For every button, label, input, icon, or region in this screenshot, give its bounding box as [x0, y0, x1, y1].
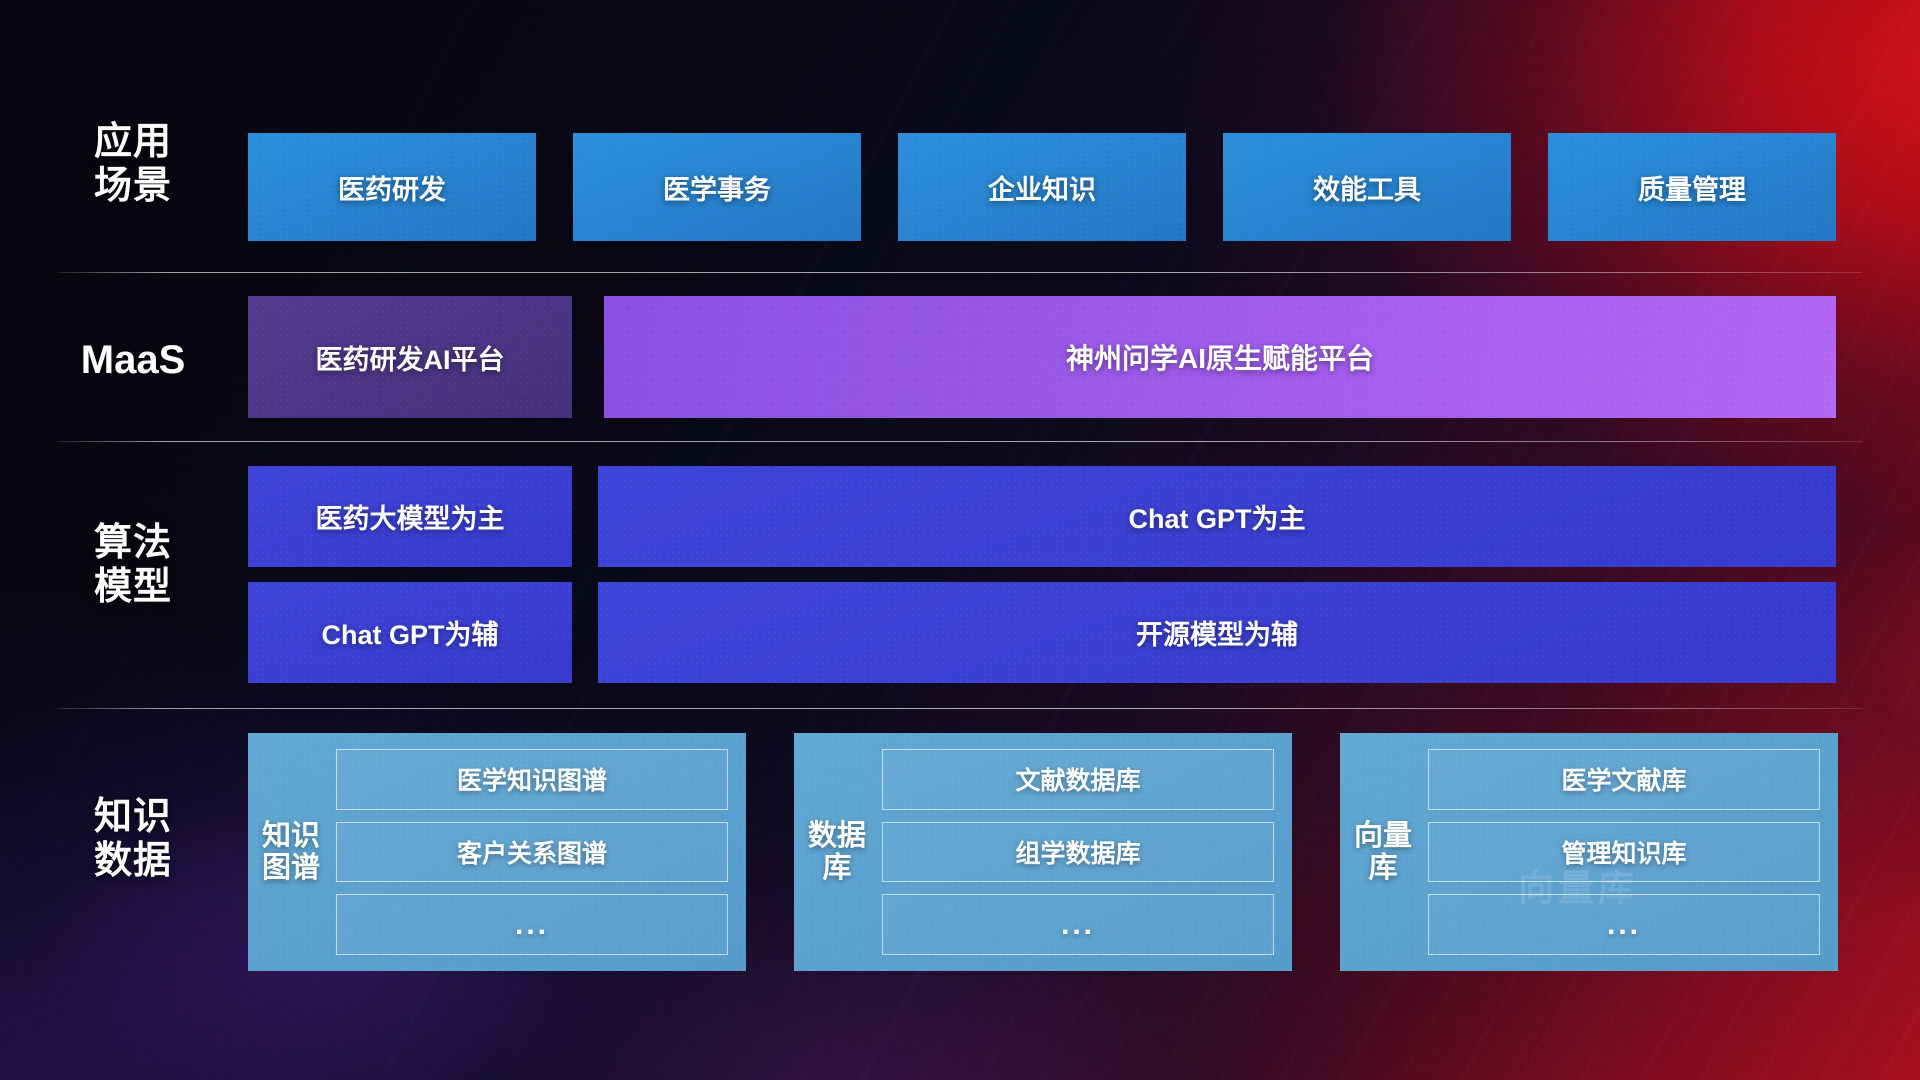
row-label-knowledge-line1: 知识 [58, 795, 208, 839]
row-label-algorithm-line1: 算法 [58, 521, 208, 565]
row-label-application: 应用 场景 [58, 120, 208, 208]
knowledge-panel-graph-items: 医学知识图谱 客户关系图谱 ... [336, 749, 728, 955]
knowledge-item-medical-graph[interactable]: 医学知识图谱 [336, 749, 728, 810]
knowledge-panel-graph[interactable]: 知识图谱 医学知识图谱 客户关系图谱 ... [248, 733, 746, 971]
row-label-maas: MaaS [58, 337, 208, 383]
row-label-knowledge: 知识 数据 [58, 795, 208, 883]
divider-application-maas [58, 272, 1862, 273]
knowledge-item-vector-more[interactable]: ... [1428, 894, 1820, 955]
knowledge-panel-vector-title: 向量库 [1354, 749, 1412, 955]
algo-box-opensource-secondary[interactable]: 开源模型为辅 [598, 582, 1836, 683]
knowledge-item-management-kb[interactable]: 管理知识库 [1428, 822, 1820, 883]
knowledge-panel-vector[interactable]: 向量库 向量库 医学文献库 管理知识库 ... [1340, 733, 1838, 971]
knowledge-panel-database-title: 数据库 [808, 749, 866, 955]
algo-box-chatgpt-primary[interactable]: Chat GPT为主 [598, 466, 1836, 567]
architecture-diagram: 应用 场景 医药研发 医学事务 企业知识 效能工具 质量管理 MaaS 医药研发… [0, 0, 1920, 1080]
row-label-knowledge-line2: 数据 [58, 839, 208, 883]
algo-box-drug-llm-primary[interactable]: 医药大模型为主 [248, 466, 572, 567]
knowledge-item-customer-graph[interactable]: 客户关系图谱 [336, 822, 728, 883]
knowledge-panel-database[interactable]: 数据库 文献数据库 组学数据库 ... [794, 733, 1292, 971]
divider-algorithm-knowledge [58, 708, 1862, 709]
app-box-medical-affairs[interactable]: 医学事务 [573, 133, 861, 241]
knowledge-panel-graph-title: 知识图谱 [262, 749, 320, 955]
knowledge-item-omics-db[interactable]: 组学数据库 [882, 822, 1274, 883]
knowledge-item-literature-db[interactable]: 文献数据库 [882, 749, 1274, 810]
row-label-application-line1: 应用 [58, 120, 208, 164]
app-box-enterprise-knowledge[interactable]: 企业知识 [898, 133, 1186, 241]
maas-box-drug-ai-platform[interactable]: 医药研发AI平台 [248, 296, 572, 418]
divider-maas-algorithm [58, 441, 1862, 442]
row-label-algorithm: 算法 模型 [58, 521, 208, 609]
row-label-application-line2: 场景 [58, 164, 208, 208]
maas-box-shenzhou-platform[interactable]: 神州问学AI原生赋能平台 [604, 296, 1836, 418]
knowledge-panel-database-items: 文献数据库 组学数据库 ... [882, 749, 1274, 955]
app-box-quality-management[interactable]: 质量管理 [1548, 133, 1836, 241]
knowledge-item-database-more[interactable]: ... [882, 894, 1274, 955]
row-label-algorithm-line2: 模型 [58, 565, 208, 609]
knowledge-panel-vector-items: 医学文献库 管理知识库 ... [1428, 749, 1820, 955]
knowledge-item-medical-literature[interactable]: 医学文献库 [1428, 749, 1820, 810]
app-box-efficiency-tools[interactable]: 效能工具 [1223, 133, 1511, 241]
knowledge-item-graph-more[interactable]: ... [336, 894, 728, 955]
app-box-drug-rd[interactable]: 医药研发 [248, 133, 536, 241]
algo-box-chatgpt-secondary[interactable]: Chat GPT为辅 [248, 582, 572, 683]
